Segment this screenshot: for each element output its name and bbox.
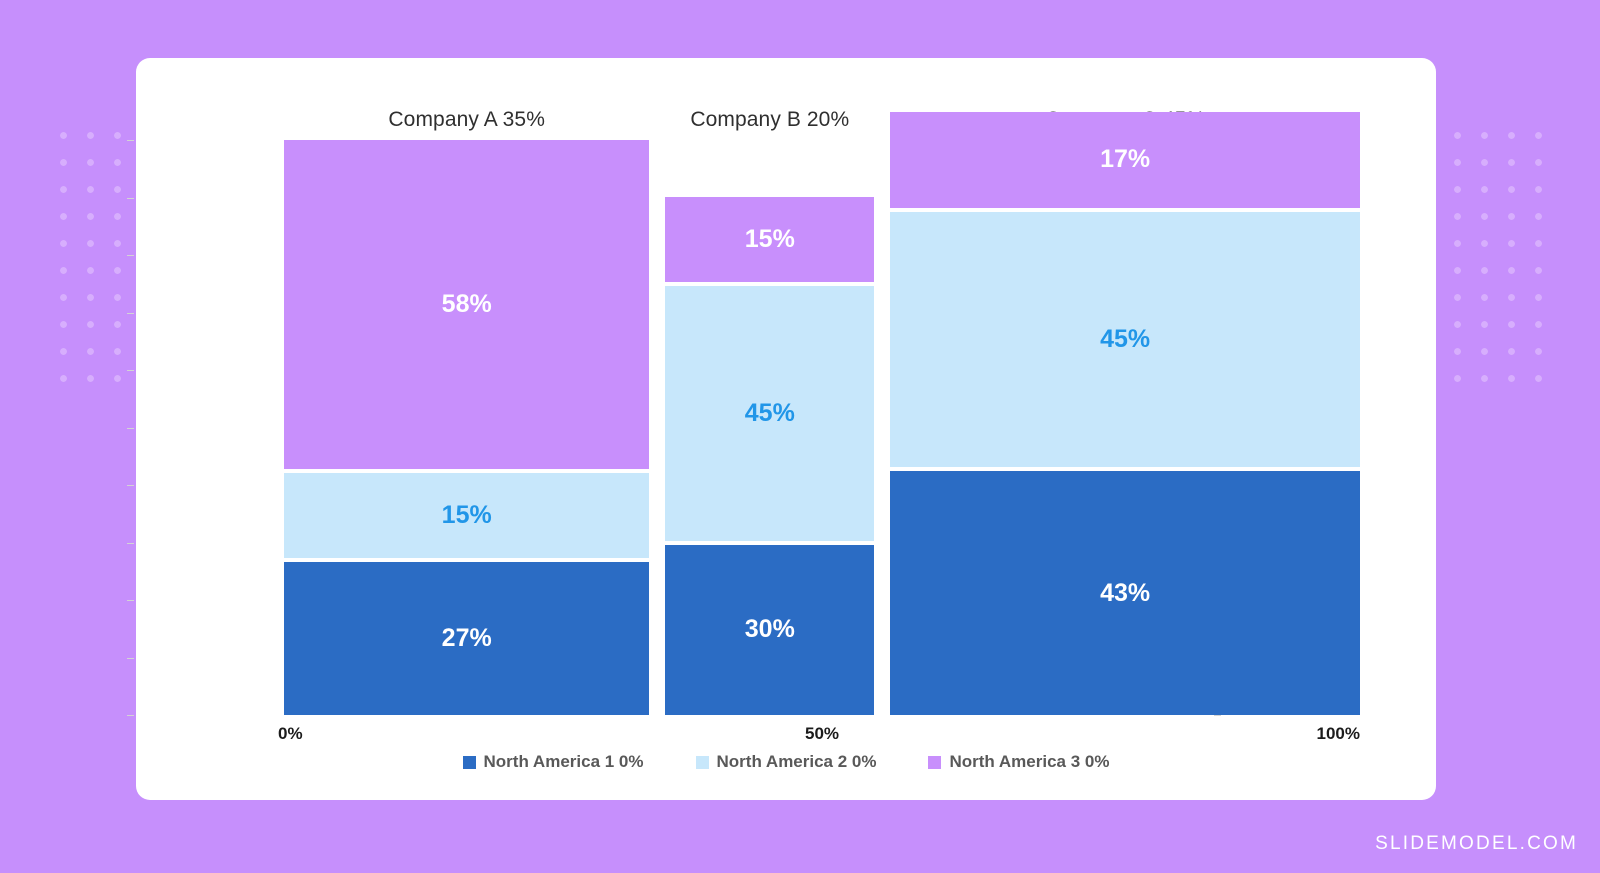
segment-value-label: 58% bbox=[442, 290, 492, 319]
y-axis-minor-tick bbox=[1214, 715, 1221, 716]
y-axis-minor-tick bbox=[127, 370, 134, 371]
y-axis-tick-mark bbox=[127, 428, 134, 429]
mekko-segment[interactable]: 58% bbox=[284, 140, 649, 469]
plot-area: Company A 35%27%15%58%Company B 20%30%45… bbox=[284, 140, 1360, 715]
mekko-segment[interactable]: 15% bbox=[665, 197, 874, 282]
x-axis-tick-label: 100% bbox=[1317, 724, 1360, 744]
chart-legend: North America 1 0%North America 2 0%Nort… bbox=[136, 752, 1436, 772]
legend-swatch-icon bbox=[463, 756, 476, 769]
mekko-column-company-b[interactable]: Company B 20%30%45%15% bbox=[665, 140, 874, 715]
mekko-segment[interactable]: 15% bbox=[284, 473, 649, 558]
legend-item[interactable]: North America 3 0% bbox=[928, 752, 1109, 772]
mekko-column-company-c[interactable]: Company C 45%43%45%17% bbox=[890, 140, 1360, 715]
segment-value-label: 30% bbox=[745, 615, 795, 644]
mekko-segment[interactable]: 45% bbox=[665, 286, 874, 541]
y-axis-tick-mark bbox=[127, 140, 134, 141]
y-axis-minor-tick bbox=[127, 658, 134, 659]
y-axis-minor-tick bbox=[127, 543, 134, 544]
marimekko-chart: 100%50%0% Company A 35%27%15%58%Company … bbox=[136, 58, 1436, 800]
brand-watermark: SLIDEMODEL.COM bbox=[1375, 833, 1578, 855]
segment-value-label: 15% bbox=[442, 501, 492, 530]
legend-label: North America 3 0% bbox=[949, 752, 1109, 772]
legend-label: North America 2 0% bbox=[717, 752, 877, 772]
column-title: Company A 35% bbox=[284, 108, 649, 132]
slide-card: 100%50%0% Company A 35%27%15%58%Company … bbox=[136, 58, 1436, 800]
x-axis-tick-label: 0% bbox=[278, 724, 303, 744]
mekko-segment[interactable]: 30% bbox=[665, 545, 874, 715]
y-axis-minor-tick bbox=[127, 485, 134, 486]
mekko-segment[interactable]: 43% bbox=[890, 471, 1360, 715]
mekko-column-company-a[interactable]: Company A 35%27%15%58% bbox=[284, 140, 649, 715]
legend-swatch-icon bbox=[696, 756, 709, 769]
legend-item[interactable]: North America 1 0% bbox=[463, 752, 644, 772]
segment-value-label: 15% bbox=[745, 225, 795, 254]
legend-item[interactable]: North America 2 0% bbox=[696, 752, 877, 772]
y-axis-minor-tick bbox=[127, 255, 134, 256]
segment-value-label: 17% bbox=[1100, 145, 1150, 174]
mekko-segment[interactable]: 27% bbox=[284, 562, 649, 715]
segment-value-label: 43% bbox=[1100, 579, 1150, 608]
legend-label: North America 1 0% bbox=[484, 752, 644, 772]
y-axis-minor-tick bbox=[127, 313, 134, 314]
y-axis-minor-tick bbox=[127, 600, 134, 601]
y-axis-tick-mark bbox=[127, 715, 134, 716]
segment-value-label: 45% bbox=[1100, 325, 1150, 354]
segment-value-label: 27% bbox=[442, 624, 492, 653]
mekko-segment[interactable]: 17% bbox=[890, 112, 1360, 208]
segment-value-label: 45% bbox=[745, 399, 795, 428]
mekko-segment[interactable]: 45% bbox=[890, 212, 1360, 467]
y-axis-minor-tick bbox=[127, 198, 134, 199]
legend-swatch-icon bbox=[928, 756, 941, 769]
column-title: Company B 20% bbox=[665, 108, 874, 132]
decorative-dot-pattern-right bbox=[1440, 118, 1552, 400]
x-axis-tick-label: 50% bbox=[805, 724, 839, 744]
